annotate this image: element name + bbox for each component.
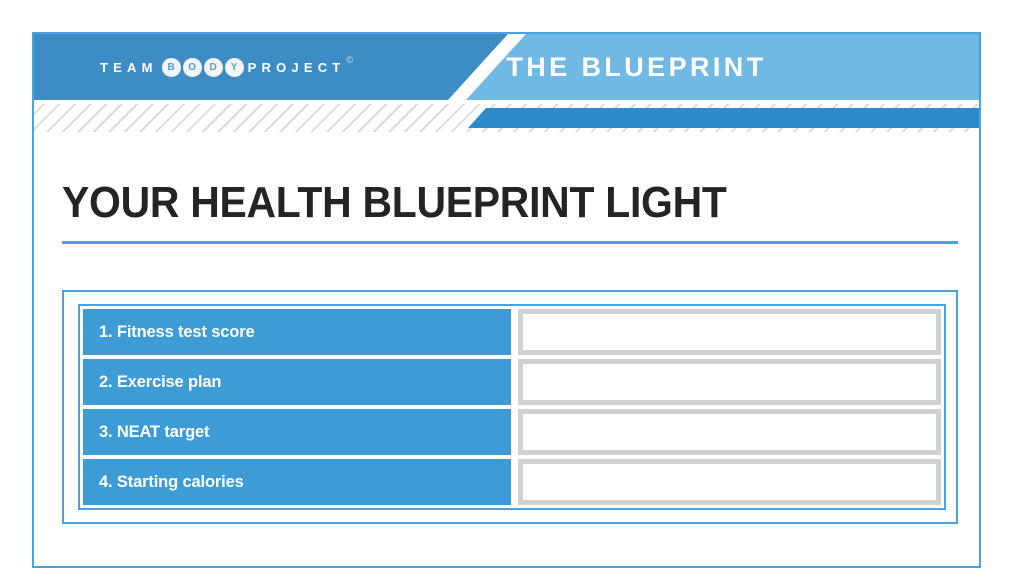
- row-label-exercise-plan: 2. Exercise plan: [83, 359, 511, 405]
- form-rows: 1. Fitness test score 2. Exercise plan 3…: [83, 309, 941, 505]
- logo-circle-o: O: [183, 58, 202, 77]
- header-band: TEAM B O D Y PROJECT © THE BLUEPRINT: [34, 34, 979, 100]
- logo-word-project: PROJECT: [248, 60, 346, 75]
- answer-field-fitness-test-score[interactable]: [518, 309, 941, 355]
- answer-field-neat-target[interactable]: [518, 409, 941, 455]
- form-table: 1. Fitness test score 2. Exercise plan 3…: [78, 304, 946, 510]
- table-row: 2. Exercise plan: [83, 359, 941, 405]
- copyright-icon: ©: [346, 55, 353, 65]
- row-label-neat-target: 3. NEAT target: [83, 409, 511, 455]
- hatch-strip-row: [34, 104, 979, 132]
- team-body-project-logo: TEAM B O D Y PROJECT ©: [100, 34, 352, 100]
- logo-circle-d: D: [204, 58, 223, 77]
- table-row: 4. Starting calories: [83, 459, 941, 505]
- logo-word-team: TEAM: [100, 60, 158, 75]
- logo-circle-y: Y: [225, 58, 244, 77]
- page-title: YOUR HEALTH BLUEPRINT LIGHT: [62, 178, 727, 228]
- row-label-starting-calories: 4. Starting calories: [83, 459, 511, 505]
- answer-field-exercise-plan[interactable]: [518, 359, 941, 405]
- logo-circle-b: B: [162, 58, 181, 77]
- table-row: 1. Fitness test score: [83, 309, 941, 355]
- row-label-fitness-test-score: 1. Fitness test score: [83, 309, 511, 355]
- slide-page: TEAM B O D Y PROJECT © THE BLUEPRINT YOU…: [0, 0, 1024, 576]
- logo-letter-circles: B O D Y: [162, 58, 244, 77]
- table-row: 3. NEAT target: [83, 409, 941, 455]
- title-underline-rule: [62, 241, 958, 244]
- answer-field-starting-calories[interactable]: [518, 459, 941, 505]
